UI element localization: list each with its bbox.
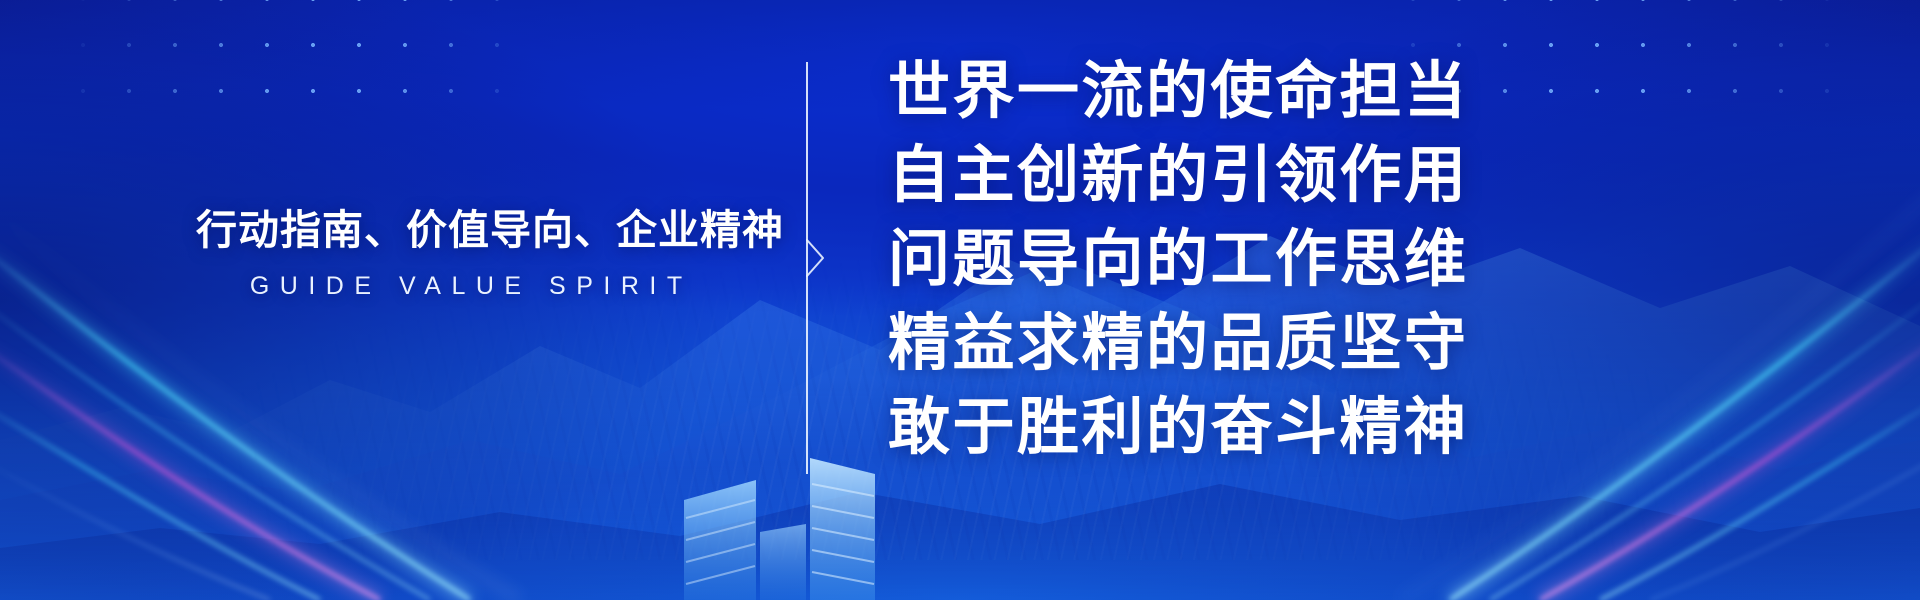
slogan-line-1: 世界一流的使命担当	[888, 50, 1469, 134]
slogan-line-3: 问题导向的工作思维	[888, 218, 1469, 302]
dot-grid-left-icon	[60, 0, 530, 110]
left-text-block: 行动指南、价值导向、企业精神 GUIDE VALUE SPIRIT	[196, 206, 736, 301]
left-title: 行动指南、价值导向、企业精神	[196, 206, 736, 254]
slogan-line-2: 自主创新的引领作用	[888, 134, 1469, 218]
culture-banner: 行动指南、价值导向、企业精神 GUIDE VALUE SPIRIT 世界一流的使…	[0, 0, 1920, 600]
left-subtitle: GUIDE VALUE SPIRIT	[196, 272, 736, 301]
slogan-line-4: 精益求精的品质坚守	[888, 302, 1469, 386]
vertical-divider	[802, 62, 828, 474]
slogan-list: 世界一流的使命担当 自主创新的引领作用 问题导向的工作思维 精益求精的品质坚守 …	[888, 50, 1469, 470]
chevron-right-icon	[807, 240, 823, 276]
slogan-line-5: 敢于胜利的奋斗精神	[888, 386, 1469, 470]
